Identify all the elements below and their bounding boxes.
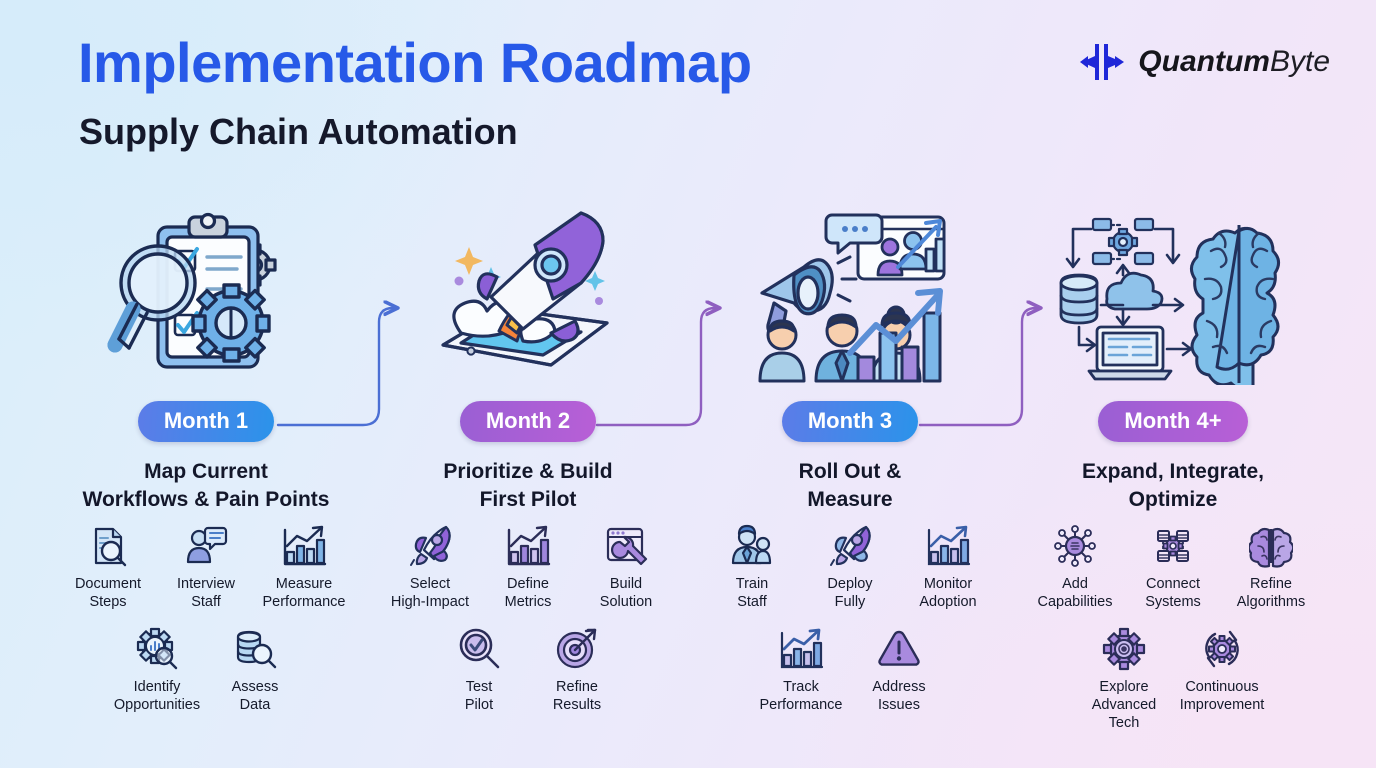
subitem-document-steps[interactable]: Document Steps — [59, 520, 157, 611]
subitem-monitor-adoption[interactable]: Monitor Adoption — [899, 520, 997, 611]
subitems-month-4: Add Capabilities — [1023, 520, 1323, 732]
subitem-label: Refine Algorithms — [1237, 576, 1306, 611]
subitems-row: Document Steps Interview Sta — [0, 520, 1376, 750]
hero-illustration-rocket — [378, 200, 678, 385]
subitem-label: Select High-Impact — [391, 576, 469, 611]
subitem-add-capabilities[interactable]: Add Capabilities — [1026, 520, 1124, 611]
browser-wrench-icon — [604, 520, 648, 572]
subitem-assess-data[interactable]: Assess Data — [206, 623, 304, 714]
document-magnifier-icon — [86, 520, 130, 572]
person-speech-bubble-icon — [184, 520, 228, 572]
subitem-label: Build Solution — [600, 576, 652, 611]
subitem-label: Define Metrics — [505, 576, 552, 611]
subitem-label: Document Steps — [75, 576, 141, 611]
stage-badge-month-1[interactable]: Month 1 — [138, 401, 274, 442]
subitem-track-performance[interactable]: Track Performance — [752, 623, 850, 714]
page-title: Implementation Roadmap — [78, 34, 752, 93]
warning-triangle-icon — [877, 623, 921, 675]
database-magnifier-icon — [233, 623, 277, 675]
rocket-icon — [828, 520, 872, 572]
subitem-label: Interview Staff — [177, 576, 235, 611]
subitem-row-1: Select High-Impact — [378, 520, 678, 611]
subitem-measure-performance[interactable]: Measure Performance — [255, 520, 353, 611]
brand-name-bold: Quantum — [1138, 45, 1270, 78]
subitem-label: Monitor Adoption — [919, 576, 976, 611]
subitem-row-1: Document Steps Interview Sta — [56, 520, 356, 611]
target-dart-icon — [555, 623, 599, 675]
brand-logo: QuantumByte — [1078, 40, 1330, 84]
subitem-train-staff[interactable]: Train Staff — [703, 520, 801, 611]
subitem-test-pilot[interactable]: Test Pilot — [430, 623, 528, 714]
stage-row: Month 1 Map Current Workflows & Pain Poi… — [0, 200, 1376, 520]
subitem-explore-advanced-tech[interactable]: Explore Advanced Tech — [1075, 623, 1173, 732]
subitem-label: Measure Performance — [262, 576, 345, 611]
stage-badge-month-3[interactable]: Month 3 — [782, 401, 918, 442]
subitem-label: Train Staff — [736, 576, 769, 611]
subitem-label: Test Pilot — [465, 679, 493, 714]
stage-month-2: Month 2 Prioritize & Build First Pilot — [378, 200, 678, 514]
subitem-row-2: Identify Opportunities — [56, 623, 356, 714]
subitem-row-2: Track Performance Address Issues — [700, 623, 1000, 714]
stage-title-month-4: Expand, Integrate, Optimize — [1023, 458, 1323, 513]
rocket-icon — [408, 520, 452, 572]
stage-month-1: Month 1 Map Current Workflows & Pain Poi… — [56, 200, 356, 514]
stage-title-month-2: Prioritize & Build First Pilot — [378, 458, 678, 513]
page-subtitle: Supply Chain Automation — [79, 112, 518, 152]
subitem-build-solution[interactable]: Build Solution — [577, 520, 675, 611]
stage-title-month-3: Roll Out & Measure — [700, 458, 1000, 513]
subitem-row-2: Test Pilot — [378, 623, 678, 714]
stage-month-4: Month 4+ Expand, Integrate, Optimize — [1023, 200, 1323, 514]
stage-badge-month-2[interactable]: Month 2 — [460, 401, 596, 442]
gear-refresh-icon — [1200, 623, 1244, 675]
hero-illustration-megaphone — [700, 200, 1000, 385]
subitem-label: Explore Advanced Tech — [1075, 679, 1173, 732]
subitem-label: Continuous Improvement — [1180, 679, 1265, 714]
infographic-canvas: Implementation Roadmap Supply Chain Auto… — [0, 0, 1376, 768]
subitem-continuous-improvement[interactable]: Continuous Improvement — [1173, 623, 1271, 732]
subitems-month-1: Document Steps Interview Sta — [56, 520, 356, 715]
brain-icon — [1249, 520, 1293, 572]
hero-illustration-clipboard — [56, 200, 356, 385]
subitem-interview-staff[interactable]: Interview Staff — [157, 520, 255, 611]
bar-chart-arrow-icon — [778, 623, 824, 675]
subitem-define-metrics[interactable]: Define Metrics — [479, 520, 577, 611]
gear-chart-magnifier-icon — [135, 623, 179, 675]
brand-name-light: Byte — [1270, 45, 1330, 78]
systems-gear-network-icon — [1151, 520, 1195, 572]
subitem-connect-systems[interactable]: Connect Systems — [1124, 520, 1222, 611]
subitem-refine-algorithms[interactable]: Refine Algorithms — [1222, 520, 1320, 611]
subitem-deploy-fully[interactable]: Deploy Fully — [801, 520, 899, 611]
magnifier-check-icon — [457, 623, 501, 675]
hero-illustration-brain — [1023, 200, 1323, 385]
subitem-address-issues[interactable]: Address Issues — [850, 623, 948, 714]
subitem-label: Identify Opportunities — [114, 679, 200, 714]
bar-chart-arrow-icon — [925, 520, 971, 572]
subitems-month-3: Train Staff — [700, 520, 1000, 715]
subitem-label: Track Performance — [759, 679, 842, 714]
subitems-month-2: Select High-Impact — [378, 520, 678, 715]
quantumbyte-logo-mark-icon — [1078, 40, 1126, 84]
subitem-row-1: Train Staff — [700, 520, 1000, 611]
trainer-people-icon — [730, 520, 774, 572]
stage-title-month-1: Map Current Workflows & Pain Points — [56, 458, 356, 513]
subitem-identify-opportunities[interactable]: Identify Opportunities — [108, 623, 206, 714]
bar-chart-arrow-icon — [281, 520, 327, 572]
subitem-label: Deploy Fully — [827, 576, 872, 611]
network-node-icon — [1053, 520, 1097, 572]
stage-badge-month-4[interactable]: Month 4+ — [1098, 401, 1247, 442]
gear-explore-icon — [1102, 623, 1146, 675]
subitem-label: Address Issues — [872, 679, 925, 714]
subitem-label: Assess Data — [232, 679, 279, 714]
bar-chart-arrow-icon — [505, 520, 551, 572]
subitem-row-2: Explore Advanced Tech — [1023, 623, 1323, 732]
subitem-label: Refine Results — [553, 679, 601, 714]
subitem-label: Add Capabilities — [1038, 576, 1113, 611]
subitem-select-high-impact[interactable]: Select High-Impact — [381, 520, 479, 611]
brand-name: QuantumByte — [1138, 47, 1330, 77]
stage-month-3: Month 3 Roll Out & Measure — [700, 200, 1000, 514]
subitem-refine-results[interactable]: Refine Results — [528, 623, 626, 714]
subitem-row-1: Add Capabilities — [1023, 520, 1323, 611]
subitem-label: Connect Systems — [1145, 576, 1201, 611]
